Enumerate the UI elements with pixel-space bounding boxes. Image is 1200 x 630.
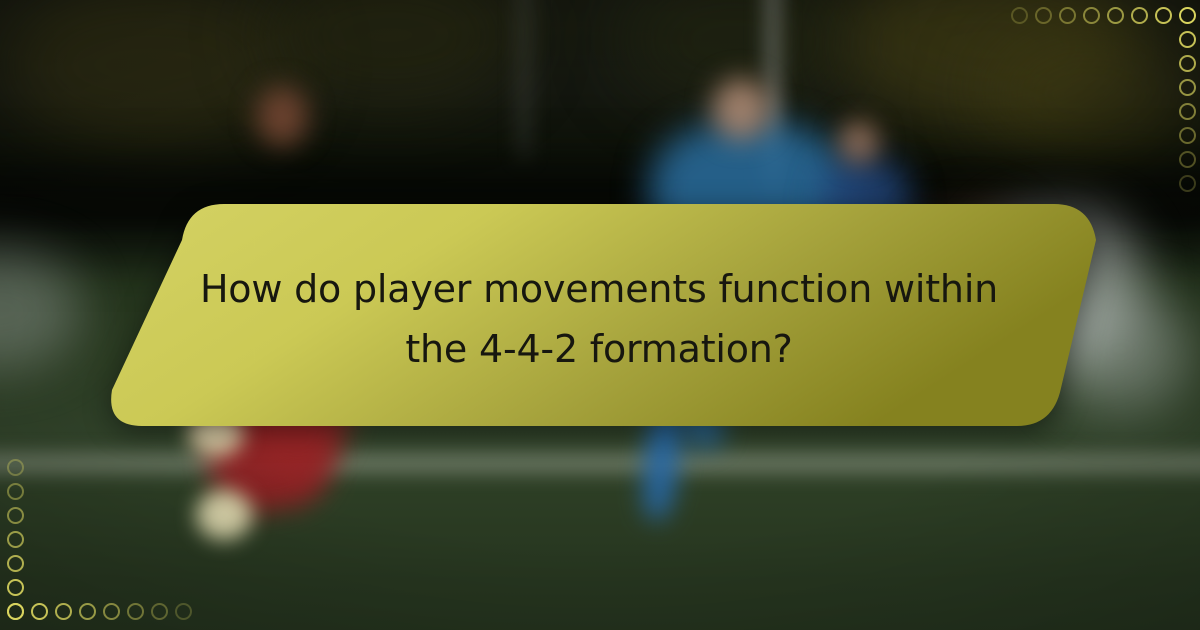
- question-card-graphic: How do player movements function within …: [0, 0, 1200, 630]
- question-line-2: the 4-4-2 formation?: [405, 319, 792, 379]
- question-text-block: How do player movements function within …: [96, 196, 1102, 434]
- question-card: How do player movements function within …: [96, 196, 1102, 434]
- question-line-1: How do player movements function within: [200, 259, 998, 319]
